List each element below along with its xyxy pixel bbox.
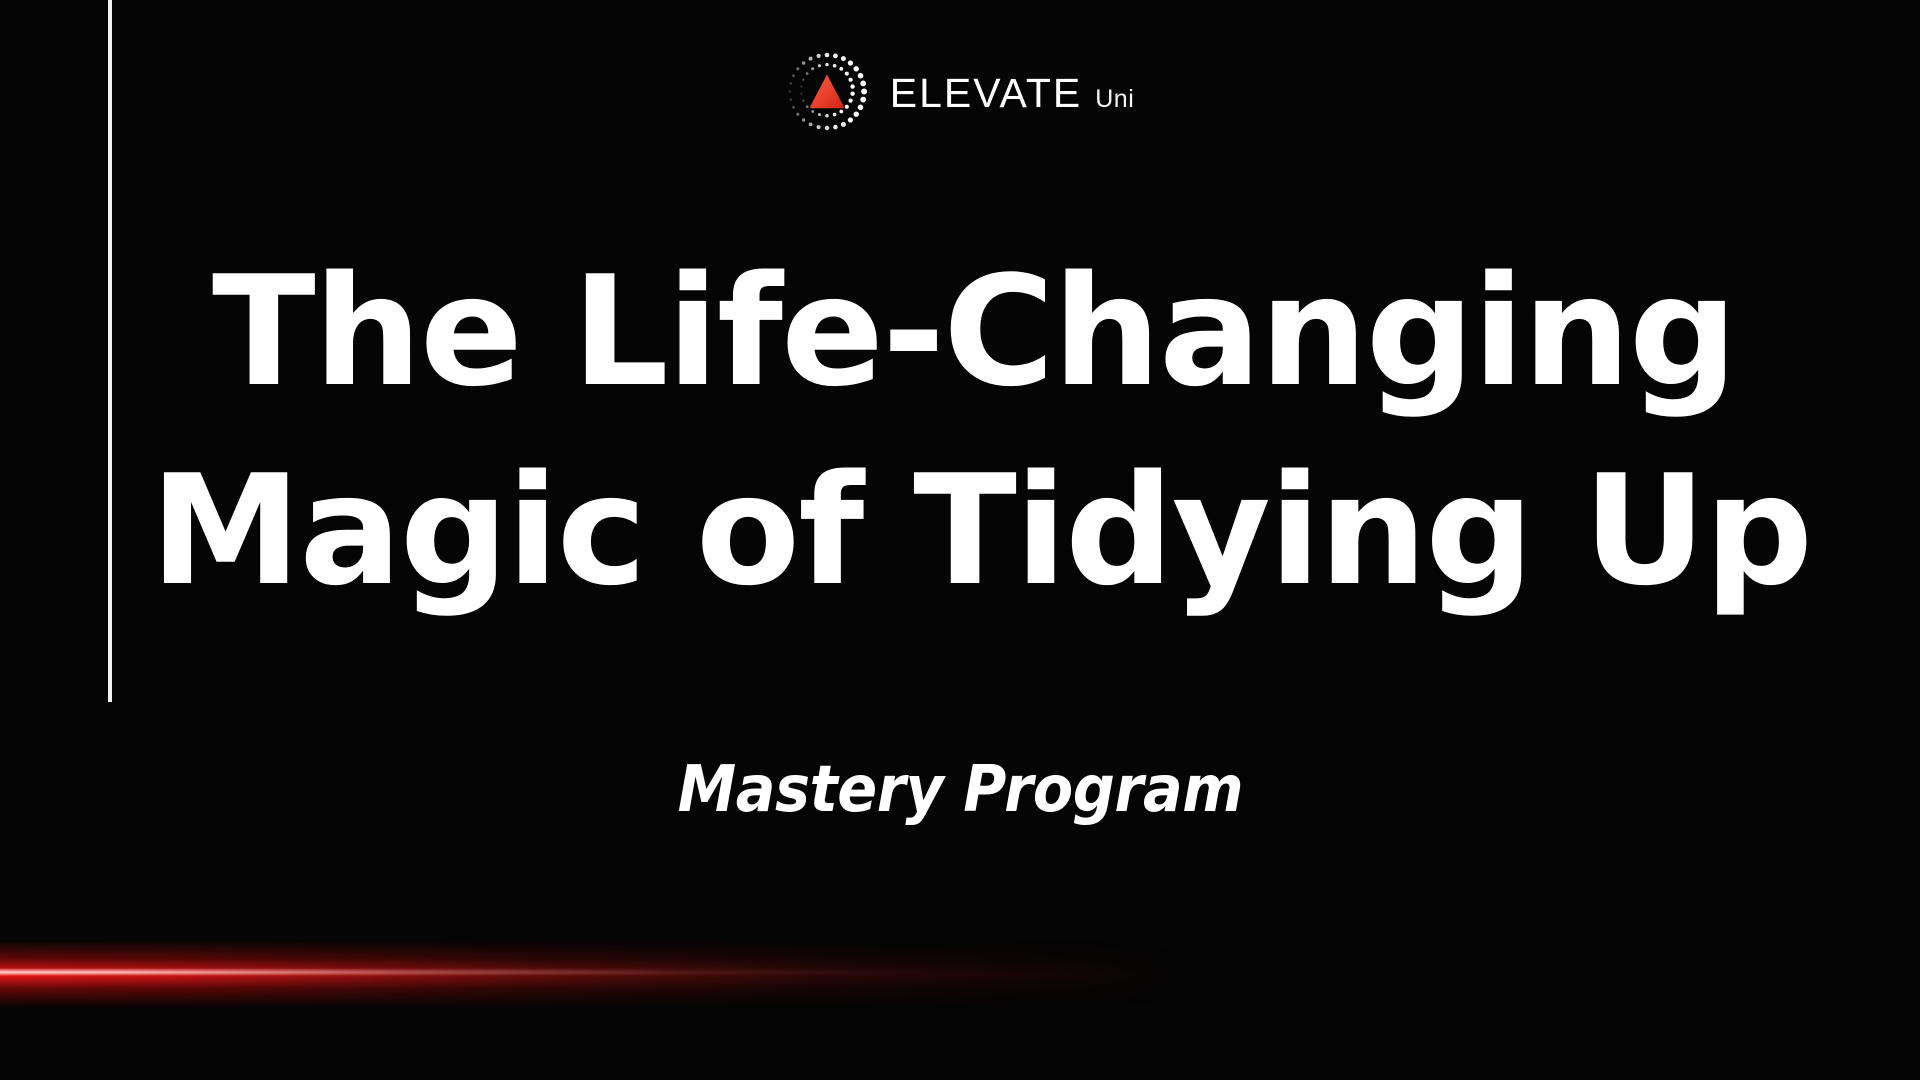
brand-lockup: ELEVATE Uni — [0, 52, 1920, 134]
title-slide: ELEVATE Uni The Life-Changing Magic of T… — [0, 0, 1920, 1080]
subtitle-text: Mastery Program — [677, 758, 1243, 822]
brand-sub-label: Uni — [1095, 87, 1134, 112]
brand-wordmark: ELEVATE Uni — [890, 73, 1135, 114]
red-glow-bar — [0, 928, 1180, 1020]
glow-core-line — [0, 968, 1180, 976]
subtitle: Mastery Program — [0, 758, 1920, 822]
triangle-in-dot-ring-icon — [786, 52, 868, 134]
title-line-1: The Life-Changing — [150, 232, 1800, 431]
title-line-2: Magic of Tidying Up — [150, 431, 1800, 630]
page-title: The Life-Changing Magic of Tidying Up — [150, 232, 1800, 630]
brand-name: ELEVATE — [890, 73, 1083, 114]
